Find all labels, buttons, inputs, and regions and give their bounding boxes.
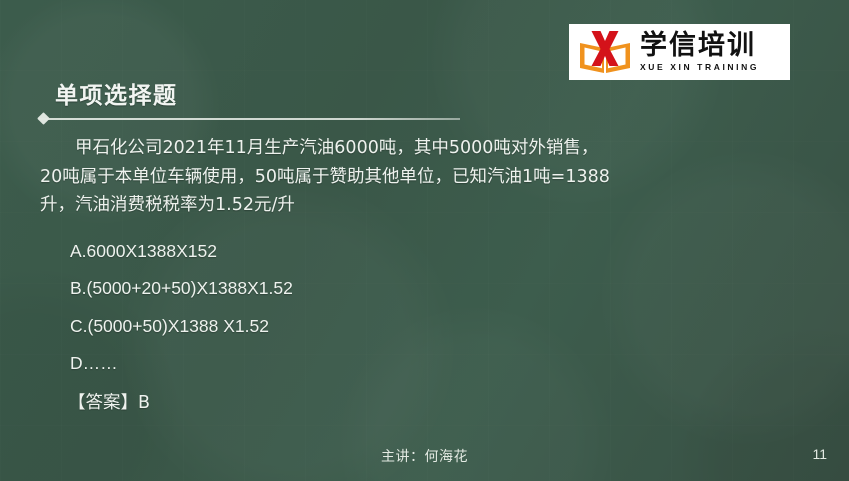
title-divider [40, 118, 460, 120]
brand-name-en: XUE XIN TRAINING [640, 63, 759, 72]
question-block: 甲石化公司2021年11月生产汽油6000吨，其中5000吨对外销售，20吨属于… [40, 134, 615, 420]
brand-name-cn: 学信培训 [640, 32, 759, 60]
option-a[interactable]: A.6000X1388X152 [40, 233, 615, 271]
question-stem: 甲石化公司2021年11月生产汽油6000吨，其中5000吨对外销售，20吨属于… [40, 134, 615, 220]
presenter-label: 主讲：何海花 [0, 446, 849, 466]
presentation-slide: 学信培训 XUE XIN TRAINING 单项选择题 甲石化公司2021年11… [0, 0, 849, 481]
option-b[interactable]: B.(5000+20+50)X1388X1.52 [40, 270, 615, 308]
page-number: 11 [812, 446, 827, 462]
option-c[interactable]: C.(5000+50)X1388 X1.52 [40, 308, 615, 346]
open-book-x-logo-icon [578, 30, 632, 74]
brand-logo-text: 学信培训 XUE XIN TRAINING [640, 32, 759, 72]
answer-text: 【答案】B [40, 383, 615, 420]
option-d[interactable]: D…… [40, 345, 615, 383]
page-title: 单项选择题 [55, 76, 178, 110]
brand-logo: 学信培训 XUE XIN TRAINING [569, 24, 790, 80]
options-list: A.6000X1388X152 B.(5000+20+50)X1388X1.52… [40, 233, 615, 383]
